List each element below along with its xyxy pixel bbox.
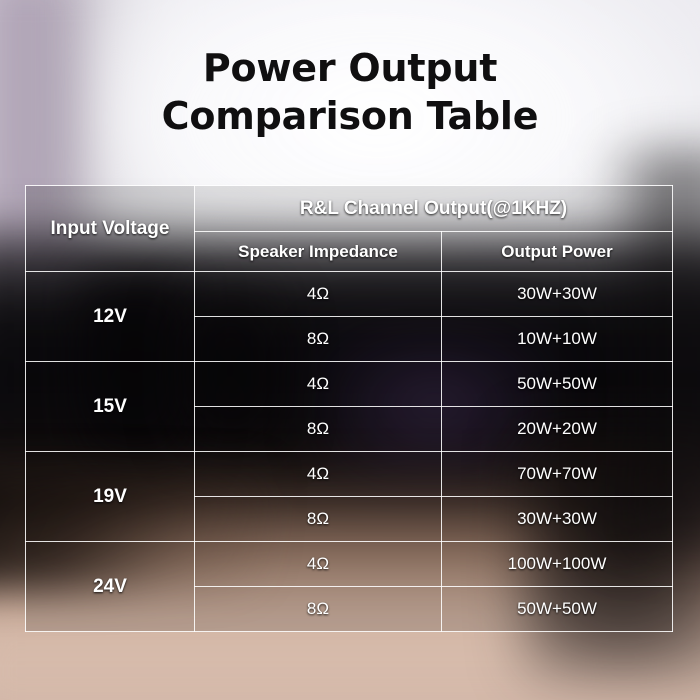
cell-power: 50W+50W (442, 362, 673, 407)
cell-voltage: 15V (26, 362, 195, 452)
header-input-voltage: Input Voltage (26, 186, 195, 272)
table-header-row-1: Input Voltage R&L Channel Output(@1KHZ) (26, 186, 673, 232)
header-channel-output: R&L Channel Output(@1KHZ) (195, 186, 673, 232)
cell-power: 30W+30W (442, 272, 673, 317)
header-output-power: Output Power (442, 232, 673, 272)
page-title-line-2: Comparison Table (0, 92, 700, 140)
cell-power: 70W+70W (442, 452, 673, 497)
page-title-line-1: Power Output (0, 44, 700, 92)
cell-impedance: 4Ω (195, 452, 442, 497)
cell-voltage: 12V (26, 272, 195, 362)
cell-impedance: 8Ω (195, 497, 442, 542)
cell-impedance: 4Ω (195, 542, 442, 587)
cell-impedance: 8Ω (195, 587, 442, 632)
page-title: Power Output Comparison Table (0, 44, 700, 140)
poster-canvas: Power Output Comparison Table Input Volt… (0, 0, 700, 700)
cell-power: 100W+100W (442, 542, 673, 587)
cell-impedance: 8Ω (195, 317, 442, 362)
cell-power: 30W+30W (442, 497, 673, 542)
table-row: 19V 4Ω 70W+70W (26, 452, 673, 497)
table-row: 12V 4Ω 30W+30W (26, 272, 673, 317)
header-speaker-impedance: Speaker Impedance (195, 232, 442, 272)
cell-voltage: 24V (26, 542, 195, 632)
table-row: 15V 4Ω 50W+50W (26, 362, 673, 407)
cell-voltage: 19V (26, 452, 195, 542)
cell-impedance: 8Ω (195, 407, 442, 452)
cell-impedance: 4Ω (195, 272, 442, 317)
cell-impedance: 4Ω (195, 362, 442, 407)
cell-power: 10W+10W (442, 317, 673, 362)
cell-power: 20W+20W (442, 407, 673, 452)
table-row: 24V 4Ω 100W+100W (26, 542, 673, 587)
cell-power: 50W+50W (442, 587, 673, 632)
power-output-table: Input Voltage R&L Channel Output(@1KHZ) … (25, 185, 673, 632)
